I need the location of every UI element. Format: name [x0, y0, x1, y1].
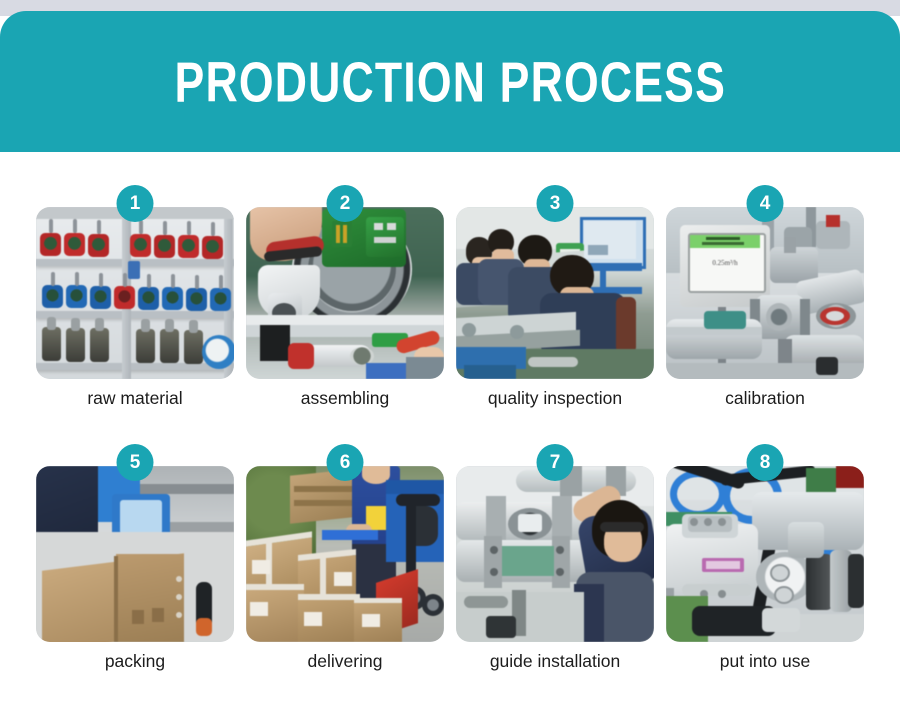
step-number-badge: 2	[327, 185, 364, 222]
calibration-reading: 0.25m³/h	[696, 259, 754, 267]
guide-installation-photo[interactable]	[456, 466, 654, 642]
process-step-8[interactable]: 8 put into use	[660, 444, 870, 671]
step-8-thumb-wrap: 8	[666, 444, 864, 620]
step-caption: packing	[105, 652, 165, 671]
step-number-badge: 8	[747, 444, 784, 481]
step-number-badge: 4	[747, 185, 784, 222]
page-title: PRODUCTION PROCESS	[174, 53, 725, 109]
step-4-thumb-wrap: 0.25m³/h	[666, 185, 864, 357]
step-caption: guide installation	[490, 652, 620, 671]
step-number-badge: 1	[117, 185, 154, 222]
step-2-thumb-wrap: 2	[246, 185, 444, 357]
process-step-3[interactable]: 3 quality inspection	[450, 185, 660, 408]
step-7-thumb-wrap: 7	[456, 444, 654, 620]
process-step-2[interactable]: 2 assembling	[240, 185, 450, 408]
step-number-badge: 5	[117, 444, 154, 481]
header-banner: PRODUCTION PROCESS	[0, 11, 900, 152]
process-step-6[interactable]: 6 delivering	[240, 444, 450, 671]
assembling-photo[interactable]	[246, 207, 444, 379]
step-caption: put into use	[720, 652, 810, 671]
step-caption: raw material	[87, 389, 182, 408]
production-process-page: PRODUCTION PROCESS	[0, 0, 900, 713]
step-1-thumb-wrap: 1	[36, 185, 234, 357]
step-caption: assembling	[301, 389, 390, 408]
process-steps-grid: 1 raw material	[0, 185, 900, 672]
delivering-photo[interactable]	[246, 466, 444, 642]
calibration-photo[interactable]: 0.25m³/h	[666, 207, 864, 379]
step-number-badge: 3	[537, 185, 574, 222]
process-step-4[interactable]: 0.25m³/h	[660, 185, 870, 408]
step-caption: calibration	[725, 389, 805, 408]
put-into-use-photo[interactable]	[666, 466, 864, 642]
step-number-badge: 6	[327, 444, 364, 481]
quality-inspection-photo[interactable]	[456, 207, 654, 379]
step-number-badge: 7	[537, 444, 574, 481]
process-step-5[interactable]: 5 packing	[30, 444, 240, 671]
step-5-thumb-wrap: 5	[36, 444, 234, 620]
step-caption: delivering	[308, 652, 383, 671]
step-3-thumb-wrap: 3	[456, 185, 654, 357]
process-step-7[interactable]: 7 guide installation	[450, 444, 660, 671]
packing-photo[interactable]	[36, 466, 234, 642]
step-caption: quality inspection	[488, 389, 622, 408]
process-step-1[interactable]: 1 raw material	[30, 185, 240, 408]
step-6-thumb-wrap: 6	[246, 444, 444, 620]
raw-material-photo[interactable]	[36, 207, 234, 379]
